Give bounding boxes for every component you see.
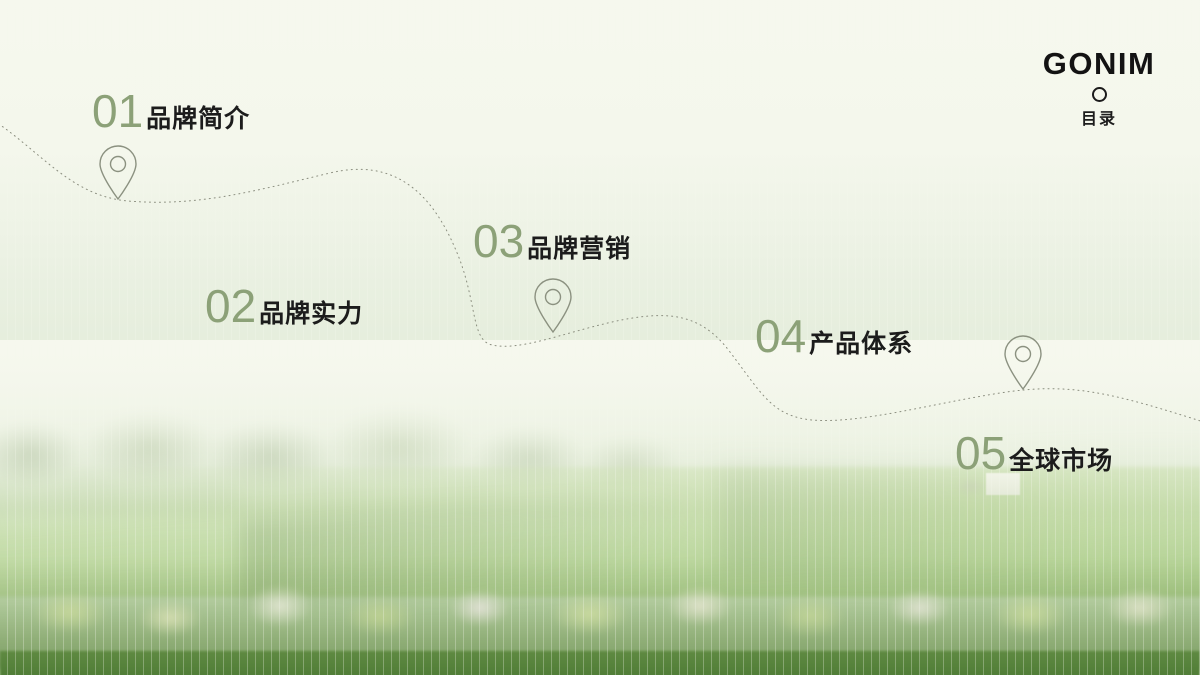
agenda-item-02[interactable]: 02 品牌实力 — [205, 283, 363, 329]
landscape-photo — [0, 355, 1200, 675]
agenda-label: 品牌简介 — [146, 106, 250, 131]
section-title: 目录 — [1034, 111, 1164, 127]
ring-icon — [1092, 87, 1107, 102]
agenda-number: 04 — [755, 313, 806, 359]
foreground-meadow — [0, 651, 1200, 675]
map-pin-icon[interactable] — [97, 145, 139, 201]
brand-block: GONIM 目录 — [1034, 48, 1164, 127]
contents-slide: 01 品牌简介 02 品牌实力 03 品牌营销 04 产品体系 05 全球市场 … — [0, 0, 1200, 675]
agenda-label: 品牌营销 — [527, 236, 631, 261]
brand-wordmark: GONIM — [1034, 48, 1164, 79]
agenda-number: 03 — [473, 218, 524, 264]
agenda-item-01[interactable]: 01 品牌简介 — [92, 88, 250, 134]
map-pin-icon[interactable] — [1002, 335, 1044, 391]
agenda-item-03[interactable]: 03 品牌营销 — [473, 218, 631, 264]
agenda-label: 品牌实力 — [259, 301, 363, 326]
agenda-number: 05 — [955, 430, 1006, 476]
agenda-item-05[interactable]: 05 全球市场 — [955, 430, 1113, 476]
agenda-number: 02 — [205, 283, 256, 329]
agenda-label: 产品体系 — [809, 331, 913, 356]
agenda-label: 全球市场 — [1009, 448, 1113, 473]
agenda-number: 01 — [92, 88, 143, 134]
map-pin-icon[interactable] — [532, 278, 574, 334]
agenda-item-04[interactable]: 04 产品体系 — [755, 313, 913, 359]
